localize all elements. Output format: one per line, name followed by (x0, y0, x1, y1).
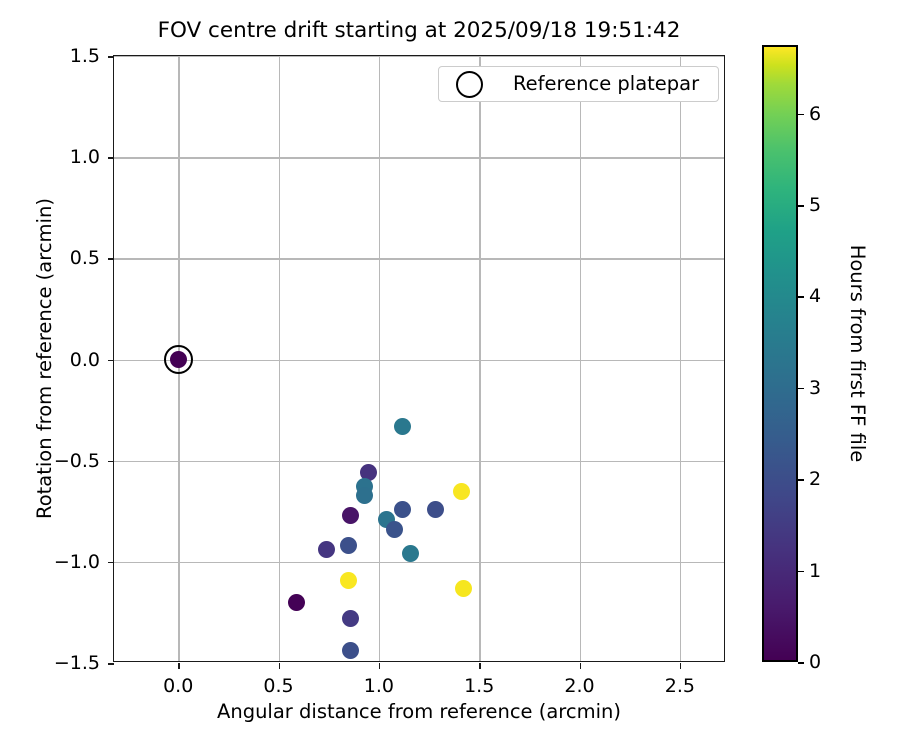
colorbar-tick-label: 5 (809, 194, 821, 216)
gridline-vertical (379, 56, 380, 661)
colorbar-tick (798, 479, 804, 481)
x-axis-tick (580, 663, 582, 669)
colorbar-tick-label: 0 (809, 651, 821, 673)
gridline-horizontal (114, 56, 724, 57)
gridline-vertical (580, 56, 581, 661)
scatter-point (288, 594, 305, 611)
scatter-point (402, 545, 419, 562)
colorbar-tick (798, 571, 804, 573)
y-axis-tick (108, 562, 114, 564)
page-title: FOV centre drift starting at 2025/09/18 … (113, 18, 725, 44)
gridline-vertical (680, 56, 681, 661)
scatter-point (340, 537, 357, 554)
legend-item-label: Reference platepar (513, 73, 699, 95)
y-axis-tick (108, 360, 114, 362)
colorbar-tick (798, 388, 804, 390)
scatter-point (455, 580, 472, 597)
gridline-vertical (279, 56, 280, 661)
plot-area (114, 56, 724, 661)
x-axis-tick-label: 0.5 (239, 675, 319, 697)
x-axis-tick-label: 1.0 (339, 675, 419, 697)
reference-platepar-marker-icon (456, 71, 483, 98)
scatter-point (342, 642, 359, 659)
y-axis-tick (108, 461, 114, 463)
colorbar-label: Hours from first FF file (842, 45, 872, 662)
x-axis-tick (279, 663, 281, 669)
scatter-point (386, 521, 403, 538)
x-axis-tick (178, 663, 180, 669)
scatter-point (394, 418, 411, 435)
gridline-horizontal (114, 461, 724, 462)
x-axis-tick (379, 663, 381, 669)
colorbar-tick (798, 296, 804, 298)
colorbar-tick-label: 1 (809, 560, 821, 582)
colorbar-tick (798, 205, 804, 207)
x-axis-tick-label: 2.0 (540, 675, 620, 697)
scatter-point (342, 610, 359, 627)
gridline-horizontal (114, 360, 724, 361)
scatter-point (342, 507, 359, 524)
scatter-point (427, 501, 444, 518)
colorbar-tick-label: 6 (809, 103, 821, 125)
y-axis-tick (108, 157, 114, 159)
colorbar-gradient (762, 45, 798, 662)
x-axis-label: Angular distance from reference (arcmin) (113, 700, 725, 723)
y-axis-tick (108, 258, 114, 260)
colorbar-tick-label: 2 (809, 468, 821, 490)
scatter-point (318, 541, 335, 558)
y-axis-tick (108, 56, 114, 58)
x-axis-tick-label: 1.5 (439, 675, 519, 697)
colorbar-tick-label: 4 (809, 285, 821, 307)
gridline-horizontal (114, 562, 724, 563)
y-axis-tick (108, 663, 114, 665)
scatter-point (356, 487, 373, 504)
scatter-point (394, 501, 411, 518)
x-axis-tick (479, 663, 481, 669)
x-axis-tick-label: 2.5 (640, 675, 720, 697)
colorbar-tick (798, 662, 804, 664)
gridline-vertical (479, 56, 480, 661)
scatter-point (340, 572, 357, 589)
legend[interactable]: Reference platepar (438, 66, 719, 102)
scatter-point (453, 483, 470, 500)
colorbar-tick-label: 3 (809, 377, 821, 399)
gridline-horizontal (114, 258, 724, 259)
colorbar-tick (798, 114, 804, 116)
plot-axes: 0.00.51.01.52.02.51.51.00.50.0−0.5−1.0−1… (113, 55, 725, 662)
colorbar: 0123456 (762, 45, 798, 662)
x-axis-tick (680, 663, 682, 669)
figure-canvas: FOV centre drift starting at 2025/09/18 … (0, 0, 900, 750)
reference-platepar-ring-icon (164, 345, 193, 374)
gridline-horizontal (114, 157, 724, 158)
y-axis-label: Rotation from reference (arcmin) (30, 55, 60, 662)
x-axis-tick-label: 0.0 (138, 675, 218, 697)
